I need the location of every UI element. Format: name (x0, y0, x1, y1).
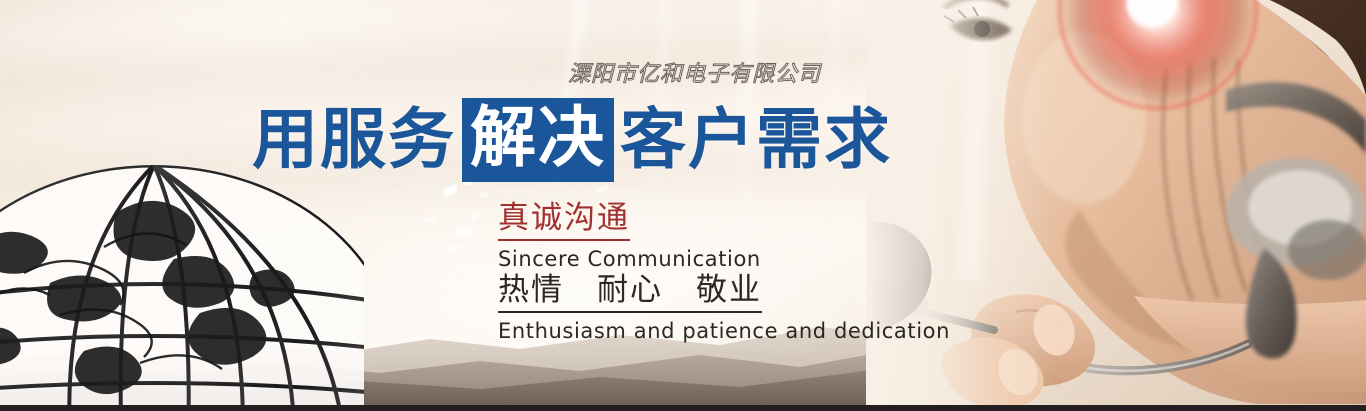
call-center-agent-photo (866, 0, 1366, 405)
banner-copy: 溧阳市亿和电子有限公司 用服务解决客户需求 真诚沟通 Sincere Commu… (0, 0, 900, 411)
slogan-en-1: Sincere Communication (498, 246, 761, 272)
headline-prefix: 用服务 (252, 102, 456, 178)
slogan-cn-1: 真诚沟通 (498, 200, 630, 241)
hero-banner: 溧阳市亿和电子有限公司 用服务解决客户需求 真诚沟通 Sincere Commu… (0, 0, 1366, 411)
slogan-block-1: 真诚沟通 Sincere Communication (498, 200, 761, 272)
company-name: 溧阳市亿和电子有限公司 (568, 56, 821, 88)
slogan-en-2: Enthusiasm and patience and dedication (498, 318, 950, 344)
slogan-cn-2: 热情 耐心 敬业 (498, 272, 762, 313)
headline-highlight: 解决 (462, 98, 614, 182)
slogan-block-2: 热情 耐心 敬业 Enthusiasm and patience and ded… (498, 272, 950, 344)
headline: 用服务解决客户需求 (252, 98, 892, 182)
headline-suffix: 客户需求 (620, 102, 892, 178)
bottom-divider-bar (0, 405, 1366, 411)
